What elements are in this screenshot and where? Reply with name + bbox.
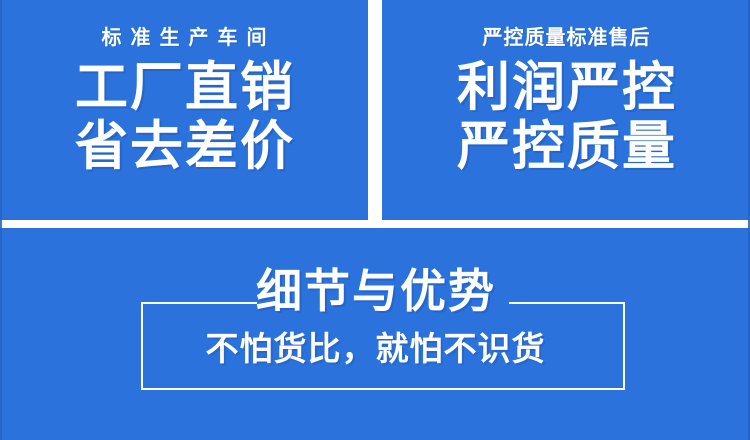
panel-details-advantages-subtitle: 不怕货比，就怕不识货 (0, 332, 750, 365)
promo-banner: 标准生产车间 工厂直销 省去差价 严控质量标准售后 利润严控 严控质量 细节与优… (0, 0, 750, 440)
panel-factory-direct: 标准生产车间 工厂直销 省去差价 (0, 0, 368, 220)
panel-quality-control: 严控质量标准售后 利润严控 严控质量 (382, 0, 750, 220)
panel-factory-direct-content: 标准生产车间 工厂直销 省去差价 (0, 0, 368, 220)
panel-quality-control-headline-line2: 严控质量 (455, 119, 677, 174)
panel-quality-control-headline-line1: 利润严控 (455, 60, 677, 115)
panel-details-advantages-content: 细节与优势 不怕货比，就怕不识货 (0, 228, 750, 440)
panel-quality-control-eyebrow: 严控质量标准售后 (482, 28, 651, 48)
panel-factory-direct-eyebrow: 标准生产车间 (93, 28, 276, 48)
panel-factory-direct-headline-line1: 工厂直销 (73, 60, 295, 115)
panel-details-advantages-title: 细节与优势 (0, 268, 750, 314)
panel-details-advantages: 细节与优势 不怕货比，就怕不识货 (0, 228, 750, 440)
panel-quality-control-content: 严控质量标准售后 利润严控 严控质量 (382, 0, 750, 220)
canvas-left-edge-strip (0, 0, 2, 440)
panel-factory-direct-headline-line2: 省去差价 (73, 119, 295, 174)
